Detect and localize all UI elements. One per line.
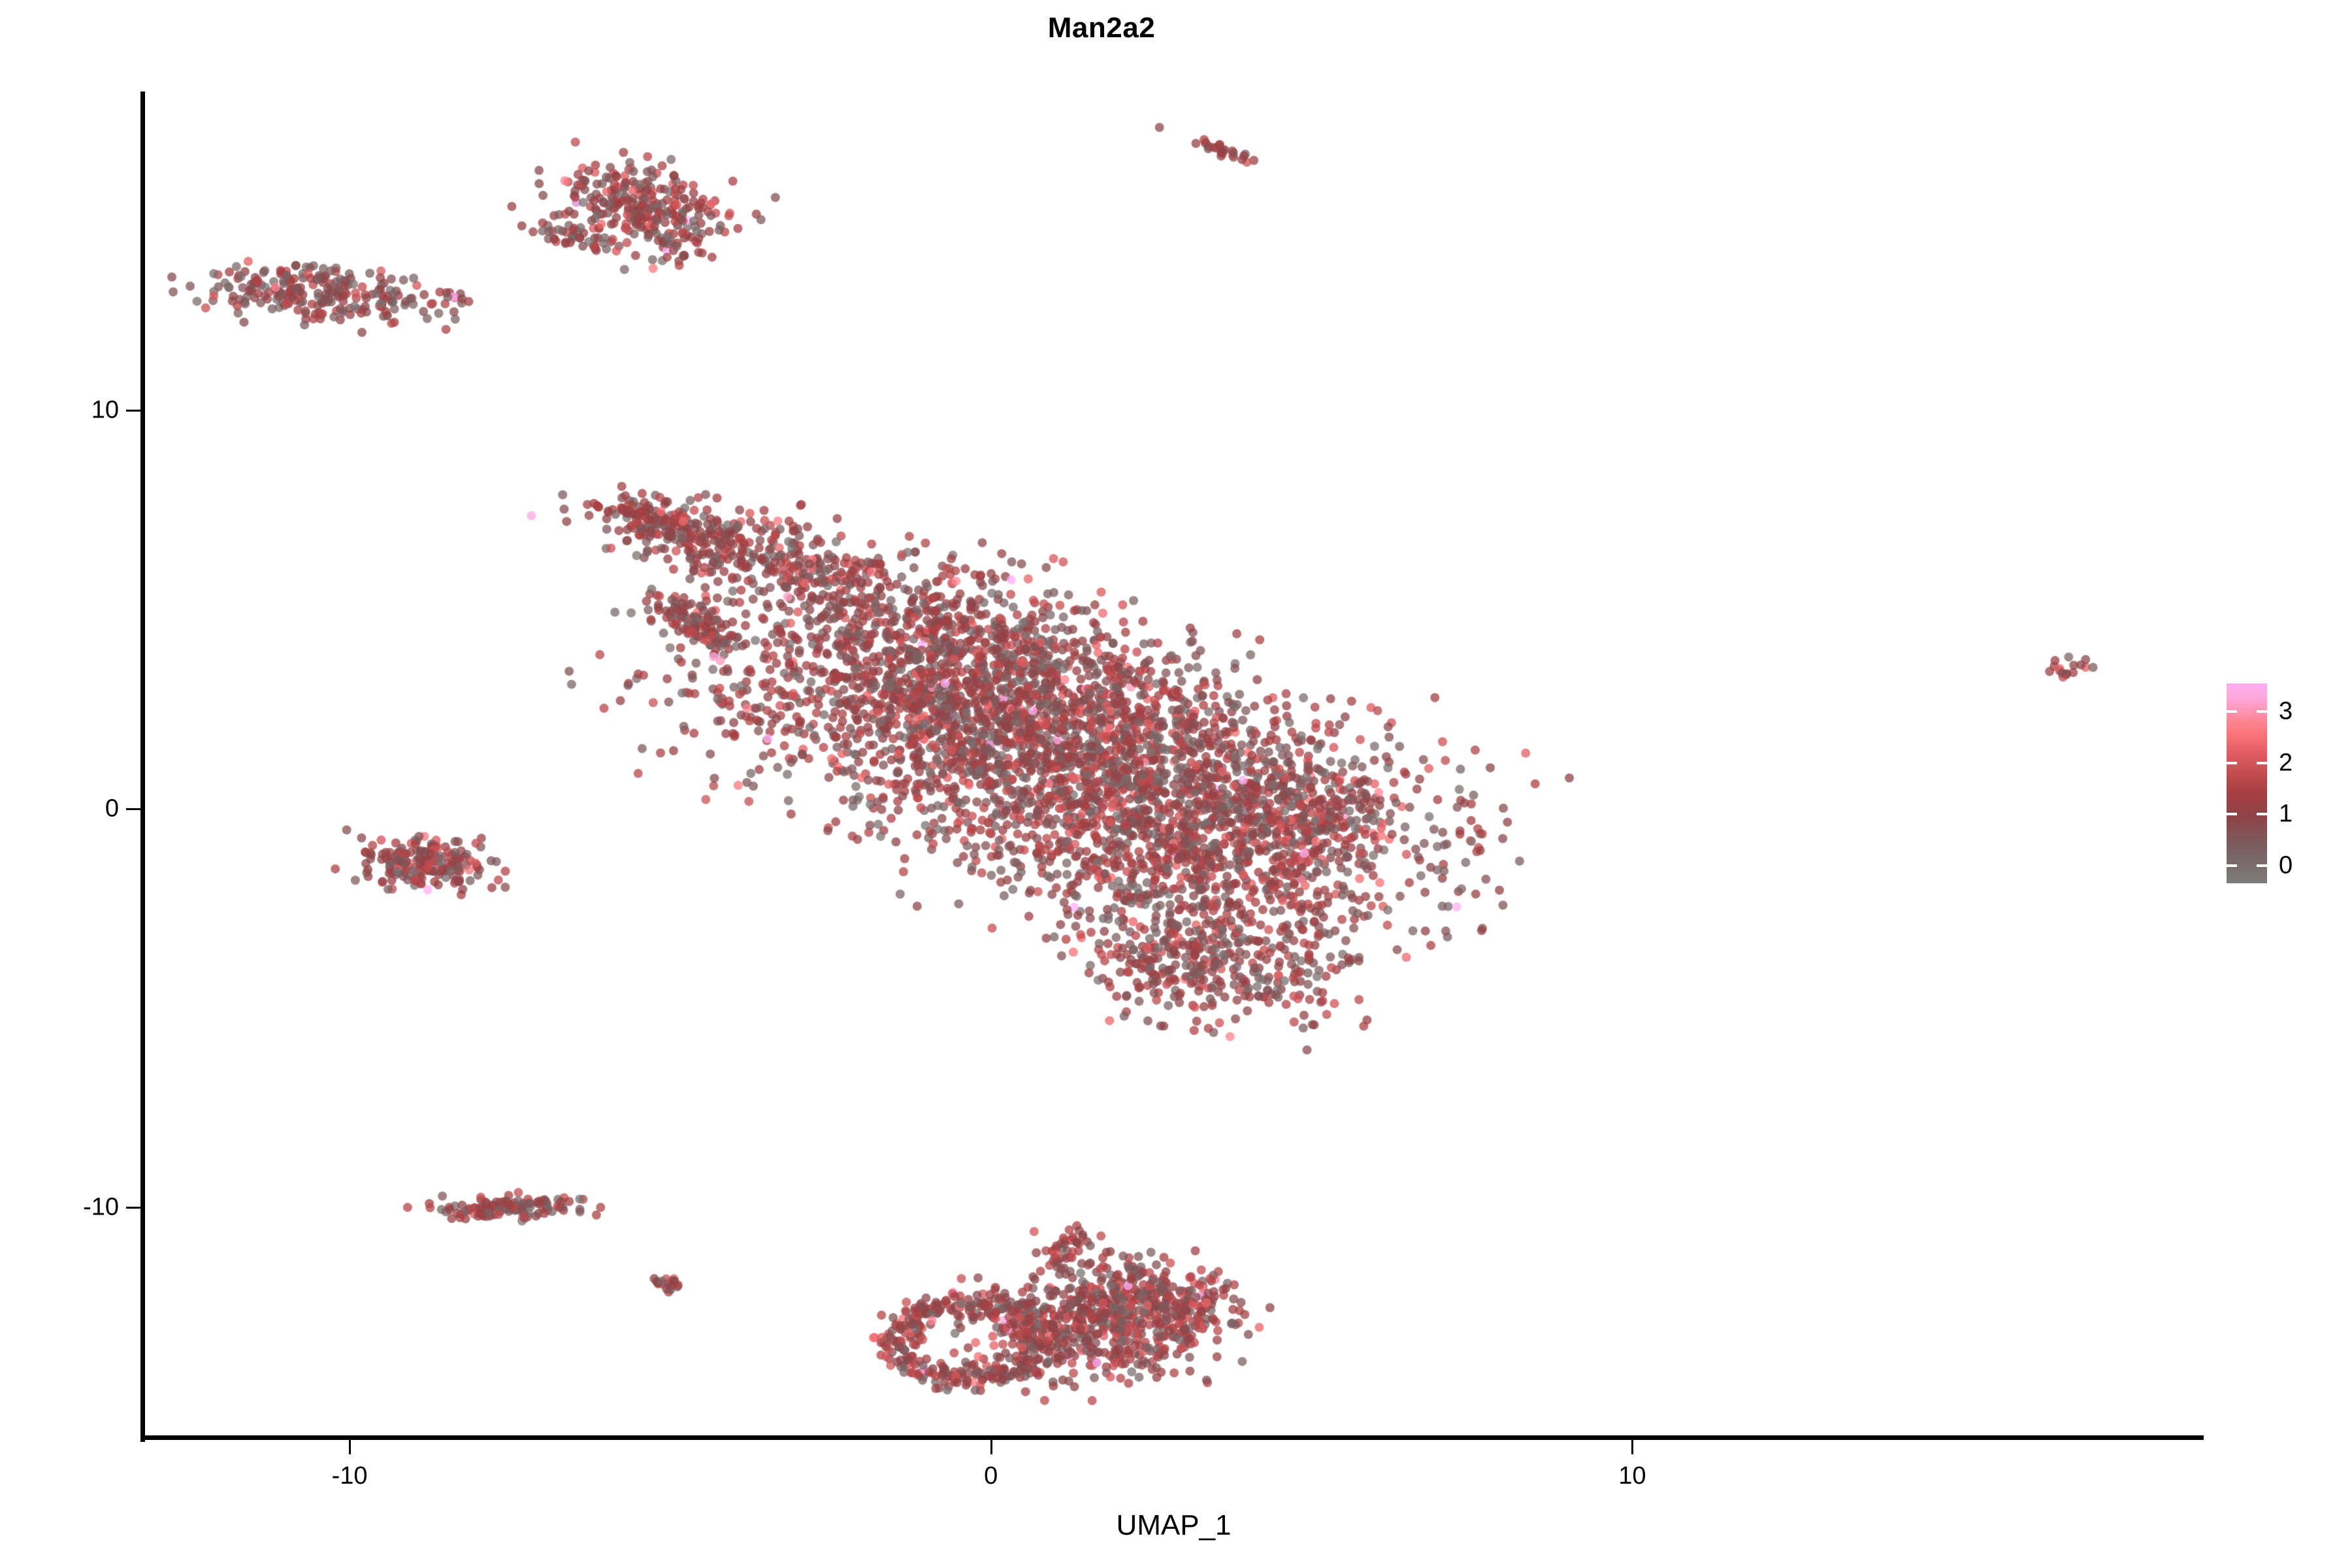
scatter-points-canvas (144, 91, 2203, 1439)
x-tick-label: 10 (1618, 1462, 1646, 1490)
colorbar-tick (2227, 813, 2237, 815)
y-tick-label: -10 (83, 1194, 119, 1222)
colorbar-label: 3 (2279, 698, 2293, 726)
y-tick-label: 0 (105, 795, 119, 823)
colorbar-label: 0 (2279, 851, 2293, 879)
y-tick-label: 10 (91, 397, 119, 425)
x-tick (990, 1440, 992, 1454)
colorbar-tick (2227, 762, 2237, 764)
x-axis-line (140, 1435, 2204, 1440)
colorbar-legend: 0123 (2227, 683, 2267, 883)
colorbar-tick (2257, 762, 2267, 764)
y-axis-line (140, 91, 145, 1442)
plot-panel (144, 91, 2203, 1439)
colorbar-tick (2257, 864, 2267, 867)
colorbar-label: 1 (2279, 800, 2293, 828)
y-tick (126, 410, 140, 412)
colorbar-tick (2227, 710, 2237, 713)
x-axis-title: UMAP_1 (144, 1509, 2203, 1542)
colorbar-tick (2257, 813, 2267, 815)
colorbar-gradient (2227, 683, 2267, 883)
x-tick-label: 0 (984, 1462, 998, 1490)
umap-feature-plot: Man2a2 -10010 -10010 UMAP_1 UMAP_2 0123 (0, 0, 2352, 1568)
x-tick-label: -10 (332, 1462, 368, 1490)
colorbar-label: 2 (2279, 749, 2293, 777)
colorbar-tick (2227, 864, 2237, 867)
y-tick (126, 808, 140, 810)
y-tick (126, 1207, 140, 1209)
page-title: Man2a2 (0, 12, 2203, 44)
colorbar-tick (2257, 710, 2267, 713)
x-tick (349, 1440, 351, 1454)
x-tick (1631, 1440, 1633, 1454)
